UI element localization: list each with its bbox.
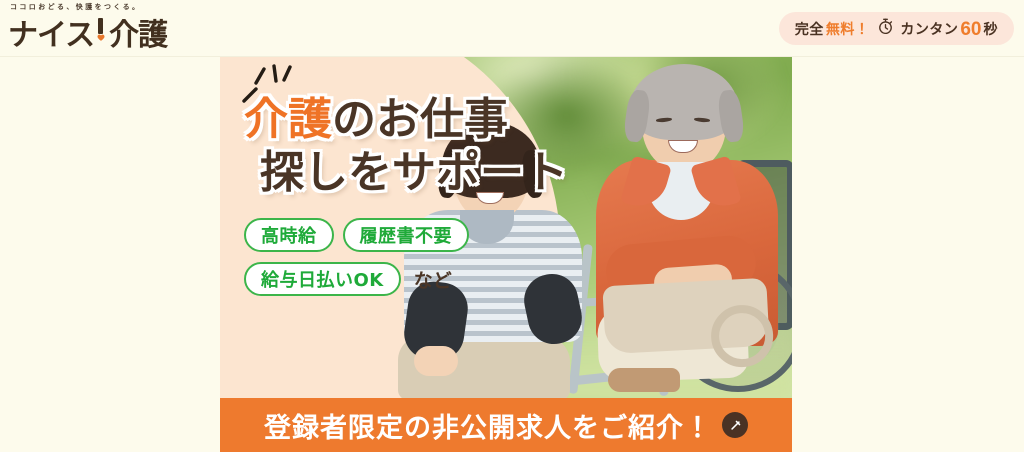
page-left-margin <box>0 57 220 452</box>
feature-pill-daily-pay[interactable]: 給与日払いOK <box>244 262 401 296</box>
badge-label-free-accent: 無料！ <box>826 19 870 39</box>
brand-logo-kana: ナイス <box>8 21 94 51</box>
cta-banner[interactable]: 登録者限定の非公開求人をご紹介！ <box>220 398 792 452</box>
brand-tagline: ココロおどる、快護をつくる。 <box>10 4 208 11</box>
badge-seconds-value: 60 <box>960 20 981 39</box>
hero-banner: 介護のお仕事 探しをサポート 高時給 履歴書不要 給与日払いOK など 登録者限… <box>220 57 792 452</box>
page-right-margin <box>792 57 1024 452</box>
cta-banner-text: 登録者限定の非公開求人をご紹介！ <box>264 406 712 445</box>
feature-pill-high-wage[interactable]: 高時給 <box>244 218 334 252</box>
hero-copy: 介護のお仕事 探しをサポート 高時給 履歴書不要 給与日払いOK など <box>244 97 574 296</box>
stopwatch-icon <box>871 18 898 40</box>
hero-headline-accent: 介護 <box>244 94 332 145</box>
brand-logo[interactable]: ココロおどる、快護をつくる。 ナイス 介護 <box>8 4 208 51</box>
feature-pill-row-1: 高時給 履歴書不要 <box>244 218 574 252</box>
free-signup-badge[interactable]: 完全 無料！ カンタン 60 秒 <box>779 12 1014 45</box>
feature-pill-row-2: 給与日払いOK など <box>244 262 574 296</box>
badge-seconds-unit: 秒 <box>984 19 999 39</box>
hero-headline-rest: のお仕事 <box>332 94 508 145</box>
hero-headline-line1: 介護のお仕事 <box>244 97 574 144</box>
hero-headline-line2: 探しをサポート <box>260 150 574 197</box>
feature-pill-suffix: など <box>414 266 452 293</box>
brand-logo-kanji: 介護 <box>109 21 167 51</box>
feature-pill-no-resume[interactable]: 履歴書不要 <box>343 218 470 252</box>
badge-label-easy: カンタン <box>900 19 958 39</box>
diagonal-slash-icon <box>722 412 748 438</box>
site-header: ココロおどる、快護をつくる。 ナイス 介護 完全 無料！ カンタン 60 秒 <box>0 0 1024 57</box>
brand-logo-text: ナイス 介護 <box>8 15 208 51</box>
badge-label-free: 完全 <box>795 19 824 39</box>
exclamation-heart-icon <box>95 15 108 45</box>
